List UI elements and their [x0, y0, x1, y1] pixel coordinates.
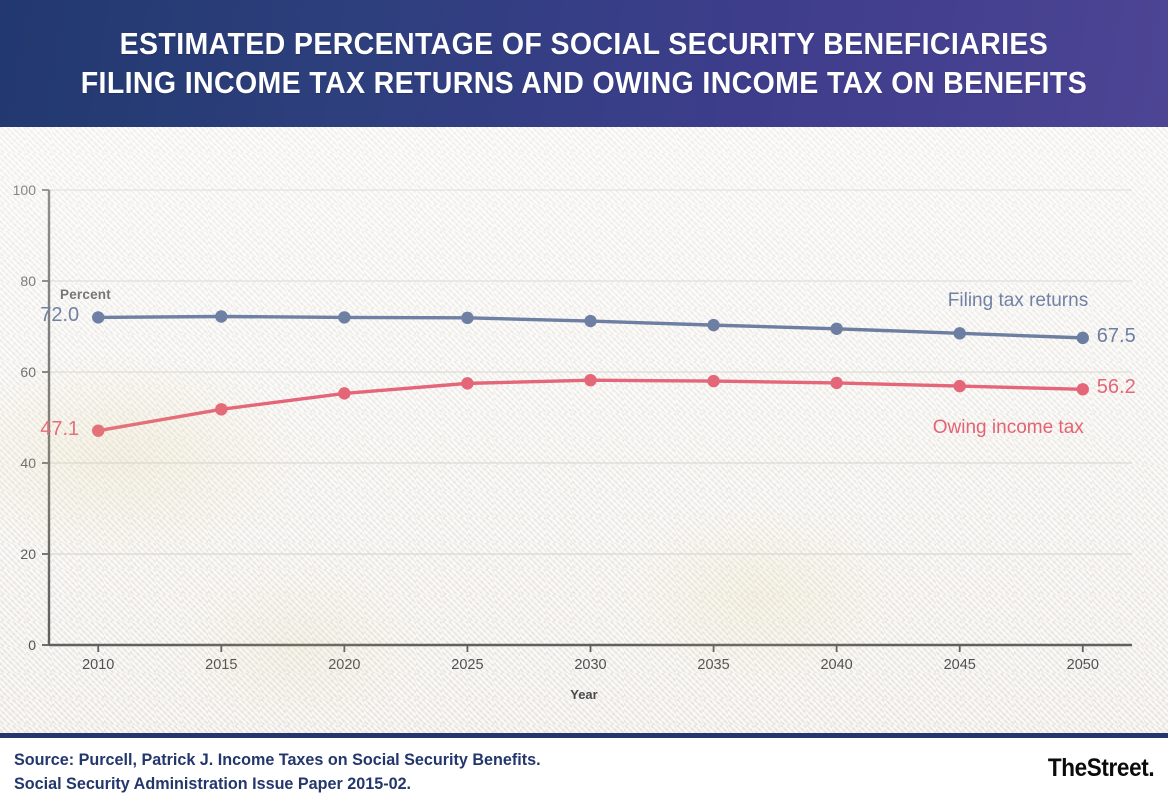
title-line-2: FILING INCOME TAX RETURNS AND OWING INCO…	[81, 64, 1087, 102]
data-point-marker	[461, 377, 473, 389]
legend-label-filing-tax-returns: Filing tax returns	[948, 290, 1088, 312]
source-line-1: Source: Purcell, Patrick J. Income Taxes…	[14, 748, 541, 772]
x-tick-label: 2010	[82, 657, 114, 673]
data-point-marker	[830, 377, 842, 389]
data-point-marker	[1077, 332, 1089, 344]
x-tick-label: 2020	[328, 657, 360, 673]
value-label-filing-end: 67.5	[1097, 325, 1136, 348]
y-tick-label: 0	[0, 637, 36, 653]
y-tick-label: 20	[0, 546, 36, 562]
y-tick-label: 80	[0, 273, 36, 289]
data-point-marker	[461, 312, 473, 324]
series-lines	[98, 316, 1083, 430]
y-tick-label: 60	[0, 364, 36, 380]
x-tick-label: 2045	[944, 657, 976, 673]
gridlines	[49, 190, 1132, 554]
x-tick-label: 2025	[451, 657, 483, 673]
data-point-marker	[584, 315, 596, 327]
data-point-marker	[1077, 383, 1089, 395]
data-point-marker	[954, 327, 966, 339]
data-point-marker	[707, 319, 719, 331]
source-citation: Source: Purcell, Patrick J. Income Taxes…	[14, 748, 541, 796]
title-line-1: ESTIMATED PERCENTAGE OF SOCIAL SECURITY …	[81, 25, 1087, 63]
data-point-marker	[707, 375, 719, 387]
data-point-marker	[215, 310, 227, 322]
page-title: ESTIMATED PERCENTAGE OF SOCIAL SECURITY …	[81, 25, 1087, 102]
data-point-marker	[92, 424, 104, 436]
infographic-chart: ESTIMATED PERCENTAGE OF SOCIAL SECURITY …	[0, 0, 1168, 800]
x-tick-label: 2050	[1067, 657, 1099, 673]
data-point-marker	[92, 311, 104, 323]
data-point-marker	[338, 387, 350, 399]
x-axis-title: Year	[0, 687, 1168, 702]
source-line-2: Social Security Administration Issue Pap…	[14, 772, 541, 796]
data-point-marker	[338, 311, 350, 323]
footer: Source: Purcell, Patrick J. Income Taxes…	[0, 733, 1168, 800]
header-banner: ESTIMATED PERCENTAGE OF SOCIAL SECURITY …	[0, 0, 1168, 127]
value-label-owing-start: 47.1	[40, 418, 79, 441]
legend-label-owing-income-tax: Owing income tax	[933, 417, 1084, 439]
y-tick-label: 100	[0, 182, 36, 198]
chart-plot-area: Percent 020406080100 2010201520202025203…	[0, 127, 1168, 733]
thestreet-logo: TheStreet.	[1048, 754, 1154, 783]
data-point-marker	[584, 374, 596, 386]
x-tick-label: 2035	[697, 657, 729, 673]
x-tick-label: 2015	[205, 657, 237, 673]
x-tick-label: 2030	[574, 657, 606, 673]
y-tick-label: 40	[0, 455, 36, 471]
data-point-marker	[830, 323, 842, 335]
value-label-owing-end: 56.2	[1097, 376, 1136, 399]
data-point-marker	[215, 403, 227, 415]
data-point-marker	[954, 380, 966, 392]
x-tick-label: 2040	[820, 657, 852, 673]
value-label-filing-start: 72.0	[40, 304, 79, 327]
